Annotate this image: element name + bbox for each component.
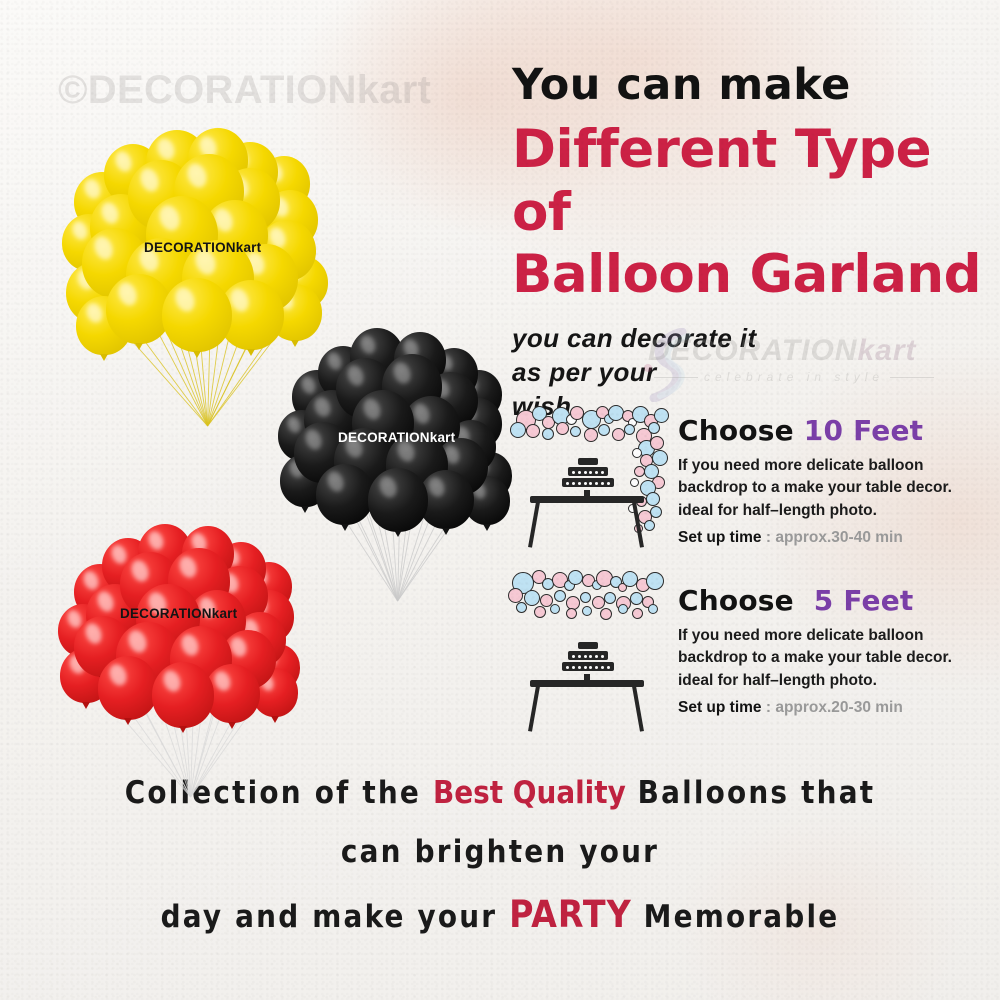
garland-balloon <box>646 572 664 590</box>
garland-balloon <box>510 422 526 438</box>
option-block-5-feet: Choose 5 Feet If you need more delicate … <box>678 584 990 717</box>
balloon-neck <box>228 722 236 729</box>
cluster-watermark-yellow: DECORATIONkart <box>144 240 261 255</box>
garland-balloon <box>630 478 639 487</box>
choose-label: Choose <box>678 584 794 617</box>
balloon <box>316 464 374 525</box>
option-setup-time-5-feet: Set up time : approx.20-30 min <box>678 699 990 717</box>
garland-illustration-5-feet <box>508 570 666 722</box>
garland-balloon <box>600 608 612 620</box>
option-amount-5-feet: 5 Feet <box>814 584 914 617</box>
watermark-center: DECORATIONkart celebrate in style <box>648 334 978 398</box>
tagline-line-3: day and make your PARTY Memorable <box>0 896 1000 933</box>
balloon-neck <box>179 726 187 733</box>
balloon <box>152 662 214 728</box>
option-amount-10-feet: 10 Feet <box>804 414 923 447</box>
cake-decoration-dots <box>571 654 605 658</box>
cake-decoration-dots <box>565 665 611 669</box>
garland-balloon <box>584 428 598 442</box>
balloon <box>162 278 232 352</box>
balloon-neck <box>483 524 491 531</box>
balloon-neck <box>100 354 108 361</box>
garland-balloon <box>526 424 540 438</box>
garland-balloon <box>516 602 527 613</box>
table-leg <box>528 686 540 732</box>
watermark-center-name: DECORATIONkart <box>648 334 978 368</box>
watermark-tagline-text: celebrate in style <box>704 370 884 384</box>
headline-line-1: You can make <box>512 64 990 107</box>
watermark-center-kart: kart <box>857 334 916 367</box>
garland-balloon <box>580 592 591 603</box>
tagline-3a: day and make your <box>161 899 510 935</box>
cluster-watermark-red: DECORATIONkart <box>120 606 237 621</box>
garland-balloon <box>568 570 583 585</box>
watermark-center-main: DECORATION <box>648 334 857 367</box>
balloon-neck <box>247 349 255 356</box>
garland-balloon <box>534 606 546 618</box>
garland-balloon <box>632 608 643 619</box>
garland-balloon <box>648 604 658 614</box>
option-desc-line-2: backdrop to a make your table decor. <box>678 647 990 669</box>
balloon-neck <box>394 530 402 537</box>
option-title-10-feet: Choose 10 Feet <box>678 414 990 447</box>
watermark-center-tagline: celebrate in style <box>648 370 978 384</box>
garland-balloon <box>570 426 581 437</box>
garland-balloon <box>582 606 592 616</box>
balloon-neck <box>442 528 450 535</box>
tagline-3b: Memorable <box>632 899 840 935</box>
garland-balloon <box>624 424 635 435</box>
tagline-line-2: can brighten your <box>0 837 1000 868</box>
balloon-cluster-red <box>58 524 313 739</box>
table-leg <box>632 686 644 732</box>
table-leg <box>632 502 644 548</box>
garland-balloon <box>630 592 643 605</box>
option-desc-line-3: ideal for half–length photo. <box>678 500 990 522</box>
watermark-top: ©DECORATIONkart <box>58 68 431 113</box>
setup-label: Set up time <box>678 699 762 716</box>
setup-value: : approx.30-40 min <box>766 529 903 546</box>
garland-balloon <box>634 466 645 477</box>
balloon-neck <box>291 340 299 347</box>
garland-balloon <box>524 590 540 606</box>
poster-canvas: ©DECORATIONkart You can make Different T… <box>0 0 1000 1000</box>
setup-value: : approx.20-30 min <box>766 699 903 716</box>
balloon-neck <box>301 506 309 513</box>
balloon-neck <box>341 524 349 531</box>
option-block-10-feet: Choose 10 Feet If you need more delicate… <box>678 414 990 547</box>
balloon <box>98 656 158 720</box>
cake-tier <box>578 458 598 465</box>
headline-line-3: Balloon Garland <box>512 244 990 307</box>
balloon-neck <box>193 351 201 358</box>
cake-decoration-dots <box>571 470 605 474</box>
watermark-top-text: DECORATIONkart <box>88 68 432 112</box>
garland-balloon <box>604 592 616 604</box>
garland-balloon <box>632 448 642 458</box>
balloon <box>368 468 428 532</box>
cake-decoration-dots <box>565 481 611 485</box>
option-desc-line-3: ideal for half–length photo. <box>678 670 990 692</box>
garland-balloon <box>654 408 669 423</box>
garland-balloon <box>556 422 569 435</box>
option-desc-line-2: backdrop to a make your table decor. <box>678 477 990 499</box>
option-title-5-feet: Choose 5 Feet <box>678 584 990 617</box>
headline-line-2: Different Type of <box>512 119 990 244</box>
garland-balloon <box>550 604 560 614</box>
garland-balloon <box>542 428 554 440</box>
garland-balloon <box>650 436 664 450</box>
choose-label: Choose <box>678 414 794 447</box>
copyright-icon: © <box>58 68 88 112</box>
garland-balloon <box>566 608 577 619</box>
table-leg <box>528 502 540 548</box>
garland-balloon <box>646 492 660 506</box>
option-desc-line-1: If you need more delicate balloon <box>678 625 990 647</box>
garland-balloon <box>508 588 523 603</box>
tagline-1b: Balloons that <box>626 775 876 811</box>
garland-balloon <box>554 590 566 602</box>
setup-label: Set up time <box>678 529 762 546</box>
option-setup-time-10-feet: Set up time : approx.30-40 min <box>678 529 990 547</box>
cake-tier <box>578 642 598 649</box>
balloon-neck <box>124 718 132 725</box>
tagline-highlight-party: PARTY <box>509 893 632 936</box>
garland-balloon <box>618 604 628 614</box>
garland-illustration-10-feet <box>508 404 666 556</box>
cluster-watermark-black: DECORATIONkart <box>338 430 455 445</box>
garland-balloon <box>644 520 655 531</box>
garland-balloon <box>648 422 660 434</box>
balloon-neck <box>135 343 143 350</box>
balloon-neck <box>271 716 279 723</box>
garland-balloon <box>598 424 610 436</box>
cake-stand-stem <box>584 490 590 498</box>
balloon-neck <box>82 702 90 709</box>
option-desc-line-1: If you need more delicate balloon <box>678 455 990 477</box>
cake-stand-stem <box>584 674 590 682</box>
tagline-highlight-best-quality: Best Quality <box>433 775 626 811</box>
